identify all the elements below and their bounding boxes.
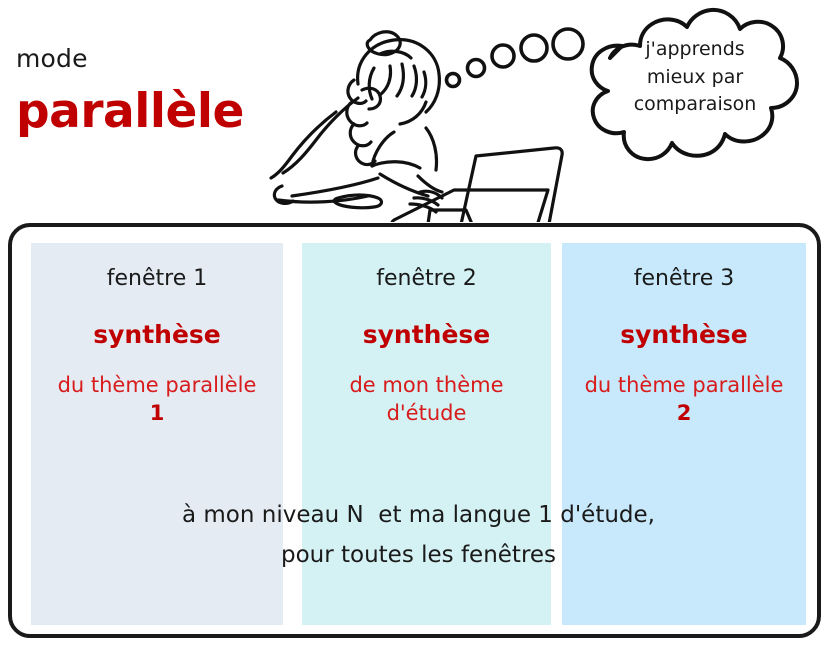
window-description-number-2: d'étude [387,401,467,425]
page-title: parallèle [16,88,244,135]
synthesis-label-2: synthèse [302,321,551,349]
window-description-text-2: de mon thème [349,373,503,397]
window-description-1: du thème parallèle 1 [31,371,283,428]
window-description-3: du thème parallèle 2 [562,371,806,428]
window-label-2: fenêtre 2 [302,267,551,291]
thought-bubble-text: j'apprends mieux par comparaison [600,36,790,119]
window-label-1: fenêtre 1 [31,267,283,291]
thought-line-2: mieux par [600,64,790,92]
window-description-text-1: du thème parallèle [58,373,257,397]
thought-line-1: j'apprends [600,36,790,64]
thought-line-3: comparaison [600,91,790,119]
window-column-2-content: fenêtre 2 synthèse de mon thème d'étude [302,267,551,427]
header-area: mode parallèle [0,0,829,222]
synthesis-label-3: synthèse [562,321,806,349]
window-label-3: fenêtre 3 [562,267,806,291]
window-column-1-content: fenêtre 1 synthèse du thème parallèle 1 [31,267,283,427]
mode-label: mode [16,46,88,71]
window-column-3[interactable]: fenêtre 3 synthèse du thème parallèle 2 [562,243,806,625]
window-description-2: de mon thème d'étude [302,371,551,428]
window-column-1[interactable]: fenêtre 1 synthèse du thème parallèle 1 [31,243,283,625]
windows-panel: fenêtre 1 synthèse du thème parallèle 1 … [8,223,821,638]
window-columns: fenêtre 1 synthèse du thème parallèle 1 … [12,227,825,642]
window-description-text-3: du thème parallèle [585,373,784,397]
window-column-3-content: fenêtre 3 synthèse du thème parallèle 2 [562,267,806,427]
synthesis-label-1: synthèse [31,321,283,349]
window-description-number-1: 1 [150,401,165,425]
window-column-2[interactable]: fenêtre 2 synthèse de mon thème d'étude [302,243,551,625]
window-description-number-3: 2 [677,401,692,425]
